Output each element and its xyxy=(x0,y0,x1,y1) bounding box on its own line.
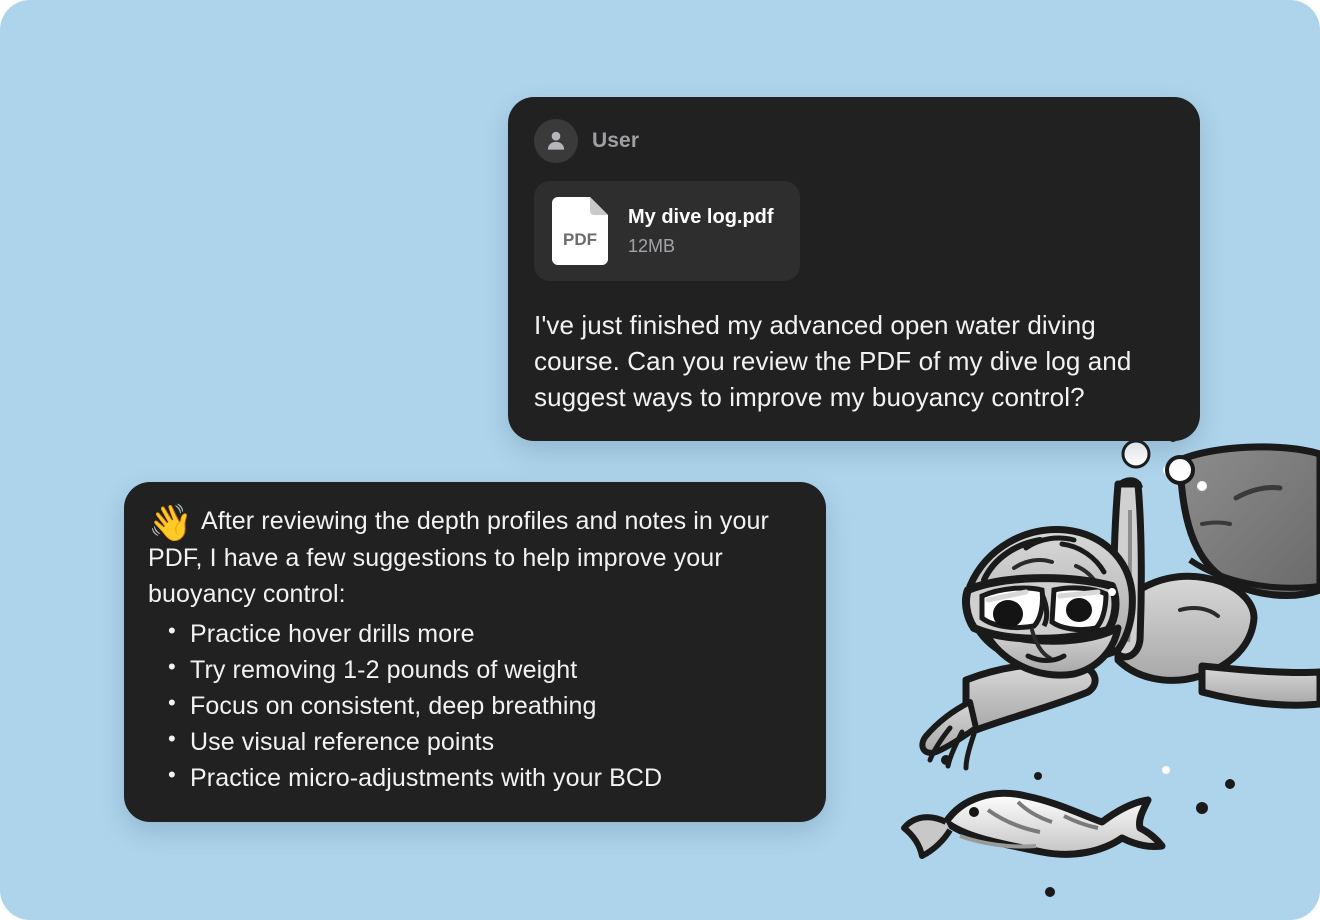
snorkeler-underwater-illustration xyxy=(850,440,1320,920)
user-message-text: I've just finished my advanced open wate… xyxy=(534,307,1174,415)
message-author: User xyxy=(592,129,639,153)
suggestion-list: Practice hover drills more Try removing … xyxy=(148,616,798,796)
chat-scene: User PDF My dive log.pdf 12MB I've just … xyxy=(0,0,1320,920)
attachment-filesize: 12MB xyxy=(628,236,774,257)
user-message-bubble: User PDF My dive log.pdf 12MB I've just … xyxy=(508,97,1200,441)
pdf-icon-label: PDF xyxy=(563,230,597,249)
waving-hand-emoji: 👋 xyxy=(148,502,193,543)
bubbles xyxy=(941,441,1235,897)
snorkel-tube xyxy=(1114,480,1141,657)
list-item: Practice hover drills more xyxy=(190,616,798,652)
list-item: Practice micro-adjustments with your BCD xyxy=(190,760,798,796)
assistant-message-bubble: 👋After reviewing the depth profiles and … xyxy=(124,482,826,822)
assistant-intro-text: After reviewing the depth profiles and n… xyxy=(148,507,769,608)
diver-torso xyxy=(1118,576,1254,680)
diver-head xyxy=(966,530,1132,676)
diver-right-arm xyxy=(1202,666,1320,705)
list-item: Focus on consistent, deep breathing xyxy=(190,688,798,724)
diver-left-arm xyxy=(922,664,1095,768)
diver-hand xyxy=(922,702,976,768)
message-header: User xyxy=(534,119,1174,163)
list-item: Use visual reference points xyxy=(190,724,798,760)
list-item: Try removing 1-2 pounds of weight xyxy=(190,652,798,688)
assistant-intro: 👋After reviewing the depth profiles and … xyxy=(148,504,798,612)
fish-illustration xyxy=(904,793,1162,856)
attachment-card[interactable]: PDF My dive log.pdf 12MB xyxy=(534,181,800,281)
person-avatar-icon xyxy=(534,119,578,163)
attachment-filename: My dive log.pdf xyxy=(628,206,774,229)
dive-mask xyxy=(966,578,1115,639)
pdf-file-icon: PDF xyxy=(552,197,608,265)
attachment-meta: My dive log.pdf 12MB xyxy=(628,206,774,257)
